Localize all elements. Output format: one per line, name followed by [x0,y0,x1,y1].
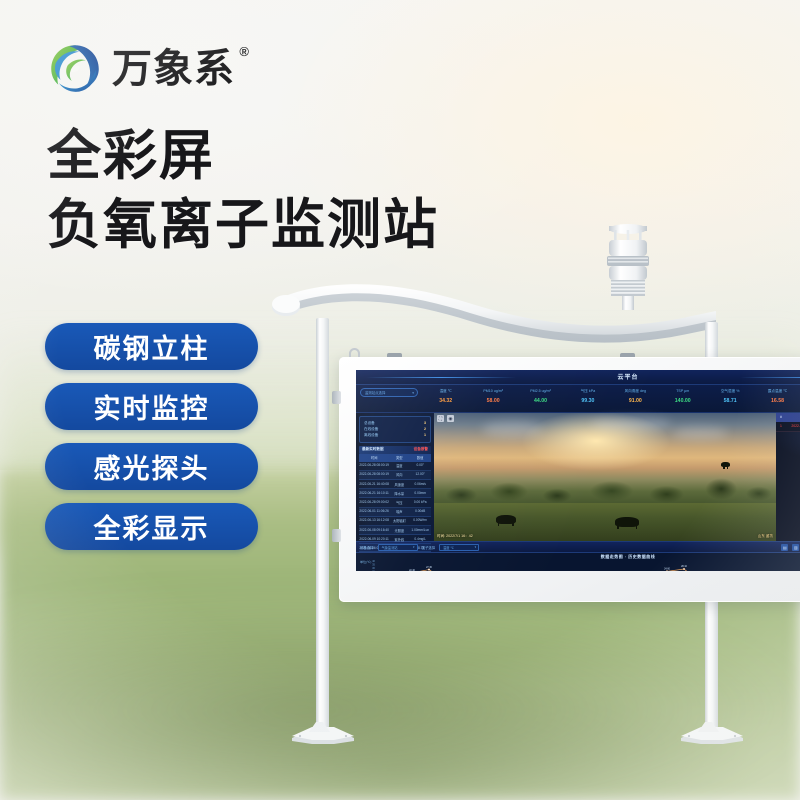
metric-dew-point: 露点温度 ℃ 16.58 [754,387,800,412]
table-row: 2022-06-13 16:12:08太阳辐射0.00W/m² [359,517,431,526]
camera-icon[interactable]: ◉ [447,415,454,422]
cell-time: 2022-06-01 11:06:26 [359,509,389,514]
cloud [673,427,728,439]
left-sidebar: 总设备 3 在线设备 2 离线设备 1 [356,413,434,541]
table-row: 2022-06-21 16:10:11降水量0.00mm [359,489,431,498]
stat-value: 1 [424,432,426,438]
mount-hook-left [349,348,360,357]
table-row: 2022-06-28 09:00:02气压0.00 kPa [359,498,431,507]
cell-type: 风向 [389,472,409,477]
device-filter-label: 设备选择 [360,545,374,550]
metric-pressure: 气压 kPa 99.30 [564,387,611,412]
alarm-time: 2022-06-22 21:11:16 [786,424,800,429]
monitoring-station-structure: 云平台 2022年7月1日 16:42 监测站点选择 温度 ℃ 34.32 PM… [0,0,800,800]
alarm-row: 12022-06-22 21:11:16温湿度传感器 温度超过上限值 超标 [776,422,800,432]
camera-view[interactable]: ⛶ ◉ 时间: 2022/7/1 16：42 山东 潍坊 [434,413,776,541]
bar-chart-icon[interactable]: ▥ [792,544,799,551]
device-filter-select[interactable]: 气象监测站 [378,544,418,551]
screen-body: 总设备 3 在线设备 2 离线设备 1 [356,413,800,541]
cell-time: 2022-06-21 16:40:08 [359,482,389,487]
mount-clip-2 [620,353,635,357]
support-post-left [316,318,329,728]
cell-type: 风速度 [389,482,409,487]
column-header-type: 类型 [389,455,409,460]
chart-plot: 05101520253035409.2006-0114.8006-0222.40… [356,559,800,571]
cell-time: 2022-06-28 09:00:02 [359,500,389,505]
mount-clip-1 [387,353,402,357]
base-plate-right [679,722,745,744]
cell-value: 0.00dB [409,509,431,514]
cell-value: 0.00 kPa [409,500,431,505]
station-select[interactable]: 监测站点选择 [360,388,418,397]
alarm-col-time: 报警时间 [786,415,800,420]
alarm-table-body: 12022-06-22 21:11:16温湿度传感器 温度超过上限值 超标 [776,422,800,432]
metric-temperature: 温度 ℃ 34.32 [422,387,469,412]
metric-pm25: PM2.5 ug/m³ 44.00 [517,387,564,412]
cell-time: 2022-06-21 16:10:11 [359,491,389,496]
camera-photo [434,413,776,541]
svg-text:24.60: 24.60 [664,569,670,571]
alarm-index: 1 [776,424,786,429]
product-poster: 万象系® 全彩屏 负氧离子监测站 碳钢立柱 实时监控 感光探头 全彩显示 [0,0,800,800]
table-title: 最新实时数据 [362,447,384,452]
screen-content: 云平台 2022年7月1日 16:42 监测站点选择 温度 ℃ 34.32 PM… [356,370,800,571]
led-display-panel: 云平台 2022年7月1日 16:42 监测站点选择 温度 ℃ 34.32 PM… [339,357,800,602]
cell-value: 0.4mg/L [409,537,431,542]
table-row: 2022-06-21 16:40:08风速度0.06m/s [359,480,431,489]
base-plate-left [290,722,356,744]
svg-text:27.30: 27.30 [426,567,432,569]
table-row: 2022-06-28 08:00:19温度0.00° [359,462,431,471]
cow-silhouette [496,515,516,524]
grass-field [434,503,776,541]
cow-silhouette [615,517,639,527]
realtime-table-header: 最新实时数据 设备报警 [359,446,431,454]
cell-type: 温度 [389,463,409,468]
device-alarm-label[interactable]: 设备报警 [414,447,428,452]
cell-time: 2022-06-08 09:16:40 [359,528,389,533]
factor-filter-select[interactable]: 温度 ℃ [439,544,479,551]
photo-timestamp: 时间: 2022/7/1 16：42 [437,534,473,539]
metric-value: 140.00 [659,396,706,407]
metric-label: 风向角度 deg [612,387,659,396]
alarm-panel-empty [776,432,800,500]
metric-value: 16.58 [754,396,800,407]
cell-type: 太阳辐射 [389,518,409,523]
history-chart: 数据走势图 · 历史数据曲线 单位(℃) 最高温度 最低温度 051015202… [356,553,800,571]
metric-humidity: 空气湿度 % 58.71 [706,387,753,412]
cell-value: 12.00° [409,472,431,477]
table-row: 2022-06-01 11:06:26噪声0.00dB [359,508,431,517]
table-icon[interactable]: ▤ [781,544,788,551]
metric-wind-direction: 风向角度 deg 91.00 [612,387,659,412]
alarm-col-index: # [776,415,786,420]
device-stats-box: 总设备 3 在线设备 2 离线设备 1 [359,416,431,443]
svg-text:40: 40 [372,559,375,563]
cell-type: 气压 [389,500,409,505]
cell-type: 光照度 [389,528,409,533]
table-row: 2022-06-28 08:00:19风向12.00° [359,471,431,480]
cloud [482,421,542,437]
metric-label: 气压 kPa [564,387,611,396]
cell-value: 0.06m/s [409,482,431,487]
metric-value: 58.00 [469,396,516,407]
metric-label: 空气湿度 % [706,387,753,396]
metric-label: TSP μm [659,387,706,396]
table-column-headers: 时间 类型 数值 [359,454,431,462]
cow-silhouette [721,462,730,467]
metric-label: 露点温度 ℃ [754,387,800,396]
expand-icon[interactable]: ⛶ [437,415,444,422]
metric-label: PM10 ug/m³ [469,387,516,396]
metric-value: 58.71 [706,396,753,407]
cell-value: 0.00mm [409,491,431,496]
metric-value: 99.30 [564,396,611,407]
cell-time: 2022-06-28 08:00:19 [359,463,389,468]
column-header-value: 数值 [409,455,431,460]
weather-sensor-icon [600,218,656,310]
table-row: 2022-06-09 10:20:11紫外线0.4mg/L [359,535,431,544]
cell-time: 2022-06-09 10:20:11 [359,537,389,542]
metric-value: 34.32 [422,396,469,407]
side-bracket-bottom [332,529,341,542]
cell-time: 2022-06-28 08:00:19 [359,472,389,477]
metric-strip: 监测站点选择 温度 ℃ 34.32 PM10 ug/m³ 58.00 PM2.5… [356,385,800,413]
screen-header: 云平台 2022年7月1日 16:42 [356,370,800,385]
metric-label: 温度 ℃ [422,387,469,396]
table-row: 2022-06-08 09:16:40光照度1.00mm/Lux [359,526,431,535]
alarm-panel: # 报警时间 报警内容 12022-06-22 21:11:16温湿度传感器 温… [776,413,800,541]
photo-location: 山东 潍坊 [758,534,773,539]
cell-value: 1.00mm/Lux [409,528,431,533]
screen-title: 云平台 [356,372,800,381]
cell-type: 噪声 [389,509,409,514]
cell-type: 紫外线 [389,537,409,542]
column-header-time: 时间 [359,455,389,460]
metric-label: PM2.5 ug/m³ [517,387,564,396]
metric-value: 91.00 [612,396,659,407]
svg-text:22.40: 22.40 [409,570,415,571]
cloud [591,417,671,431]
cell-time: 2022-06-13 16:12:08 [359,518,389,523]
metric-value: 44.00 [517,396,564,407]
metric-pm10: PM10 ug/m³ 58.00 [469,387,516,412]
stat-label: 离线设备 [364,432,378,438]
stat-row: 离线设备 1 [364,432,426,438]
cell-value: 0.00W/m² [409,518,431,523]
cell-value: 0.00° [409,463,431,468]
cell-type: 降水量 [389,491,409,496]
factor-filter-label: 因子选择 [422,545,436,550]
alarm-column-headers: # 报警时间 报警内容 [776,413,800,422]
metric-tsp: TSP μm 140.00 [659,387,706,412]
svg-text:28.10: 28.10 [681,566,687,568]
side-bracket-top [332,391,341,404]
